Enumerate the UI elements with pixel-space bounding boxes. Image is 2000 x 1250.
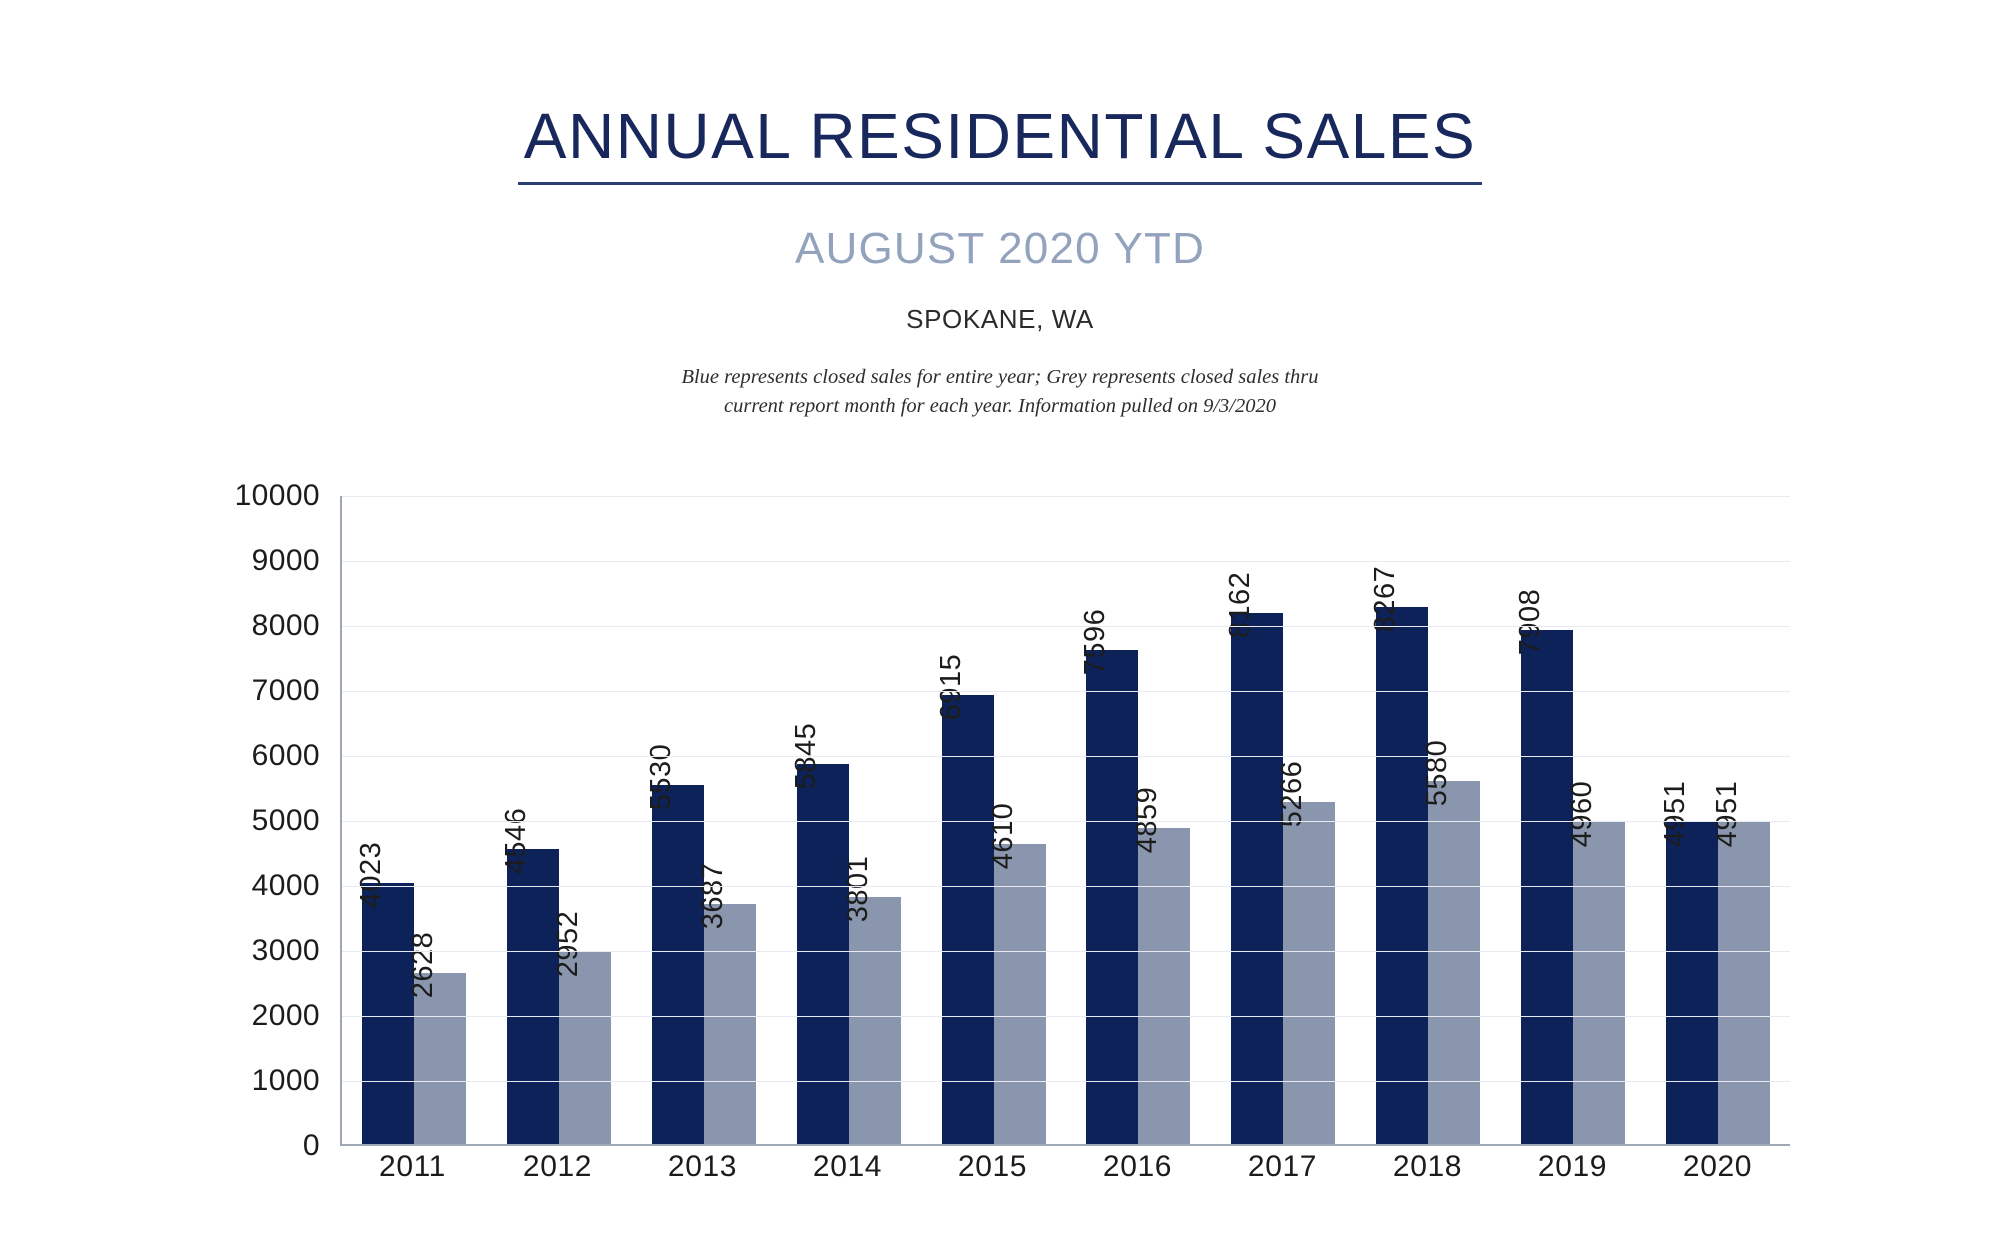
gridline: [342, 561, 1790, 562]
y-axis-tick-label: 4000: [252, 869, 320, 903]
gridline: [342, 886, 1790, 887]
bar-grey[interactable]: 2628: [414, 973, 466, 1144]
bar-group: 75964859: [1066, 496, 1211, 1144]
bar-value-label: 4960: [1566, 780, 1599, 847]
bar-chart: 1000090008000700060005000400030002000100…: [0, 496, 2000, 1196]
bar-value-label: 7908: [1514, 589, 1547, 656]
bar-value-label: 3687: [697, 863, 730, 930]
bar-blue[interactable]: 4951: [1666, 822, 1718, 1144]
y-axis-tick-label: 6000: [252, 739, 320, 773]
bar-group: 82675580: [1356, 496, 1501, 1144]
gridline: [342, 626, 1790, 627]
bar-grey[interactable]: 4960: [1573, 822, 1625, 1144]
gridline: [342, 951, 1790, 952]
bar-group: 81625266: [1211, 496, 1356, 1144]
bar-grey[interactable]: 2952: [559, 952, 611, 1144]
bar-group: 49514951: [1645, 496, 1790, 1144]
bar-group: 40232628: [342, 496, 487, 1144]
chart-note: Blue represents closed sales for entire …: [650, 363, 1350, 421]
bar-value-label: 6915: [935, 653, 968, 720]
gridline: [342, 1016, 1790, 1017]
bar-value-label: 3801: [842, 856, 875, 923]
x-axis-tick-label: 2014: [775, 1150, 920, 1184]
y-axis-tick-label: 5000: [252, 804, 320, 838]
y-axis-tick-label: 9000: [252, 544, 320, 578]
bar-value-label: 4610: [987, 803, 1020, 870]
plot-area: 4023262845462952553036875845380169154610…: [340, 496, 1790, 1146]
gridline: [342, 1081, 1790, 1082]
x-axis-tick-label: 2016: [1065, 1150, 1210, 1184]
y-axis-tick-label: 8000: [252, 609, 320, 643]
bar-grey[interactable]: 3801: [849, 897, 901, 1144]
y-axis-tick-label: 3000: [252, 934, 320, 968]
bar-value-label: 5266: [1276, 760, 1309, 827]
x-axis-tick-label: 2020: [1645, 1150, 1790, 1184]
bar-blue[interactable]: 8162: [1231, 613, 1283, 1144]
bar-blue[interactable]: 4023: [362, 883, 414, 1144]
bar-blue[interactable]: 8267: [1376, 607, 1428, 1144]
x-axis-tick-label: 2012: [485, 1150, 630, 1184]
x-axis-labels: 2011201220132014201520162017201820192020: [340, 1150, 1790, 1184]
bar-grey[interactable]: 4610: [994, 844, 1046, 1144]
y-axis-labels: 1000090008000700060005000400030002000100…: [190, 496, 320, 1146]
bar-value-label: 8267: [1369, 565, 1402, 632]
y-axis-tick-label: 2000: [252, 999, 320, 1033]
bar-group: 55303687: [632, 496, 777, 1144]
bar-value-label: 4546: [500, 807, 533, 874]
gridline: [342, 756, 1790, 757]
x-axis-tick-label: 2015: [920, 1150, 1065, 1184]
bar-blue[interactable]: 6915: [942, 695, 994, 1144]
bar-blue[interactable]: 7596: [1086, 650, 1138, 1144]
bar-group: 79084960: [1500, 496, 1645, 1144]
chart-header: ANNUAL RESIDENTIAL SALES AUGUST 2020 YTD…: [0, 0, 2000, 421]
x-axis-tick-label: 2011: [340, 1150, 485, 1184]
bar-value-label: 2952: [552, 911, 585, 978]
bar-value-label: 5530: [645, 743, 678, 810]
location-label: SPOKANE, WA: [0, 304, 2000, 335]
bar-value-label: 2628: [407, 932, 440, 999]
gridline: [342, 691, 1790, 692]
bar-blue[interactable]: 4546: [507, 849, 559, 1144]
y-axis-tick-label: 10000: [235, 479, 320, 513]
bar-value-label: 5580: [1421, 740, 1454, 807]
bar-grey[interactable]: 3687: [704, 904, 756, 1144]
bar-value-label: 8162: [1224, 572, 1257, 639]
gridline: [342, 821, 1790, 822]
bar-value-label: 4023: [355, 841, 388, 908]
y-axis-tick-label: 0: [303, 1129, 320, 1163]
gridline: [342, 496, 1790, 497]
y-axis-tick-label: 1000: [252, 1064, 320, 1098]
page-title: ANNUAL RESIDENTIAL SALES: [518, 104, 1482, 185]
page-subtitle: AUGUST 2020 YTD: [0, 227, 2000, 271]
bar-group: 58453801: [776, 496, 921, 1144]
bar-grey[interactable]: 4951: [1718, 822, 1770, 1144]
bar-grey[interactable]: 5580: [1428, 781, 1480, 1144]
y-axis-tick-label: 7000: [252, 674, 320, 708]
bar-group: 45462952: [487, 496, 632, 1144]
x-axis-tick-label: 2017: [1210, 1150, 1355, 1184]
bar-grey[interactable]: 5266: [1283, 802, 1335, 1144]
bar-value-label: 4951: [1711, 781, 1744, 848]
bar-groups: 4023262845462952553036875845380169154610…: [342, 496, 1790, 1144]
bar-blue[interactable]: 5530: [652, 785, 704, 1144]
bar-grey[interactable]: 4859: [1138, 828, 1190, 1144]
x-axis-tick-label: 2018: [1355, 1150, 1500, 1184]
bar-value-label: 4951: [1659, 781, 1692, 848]
x-axis-tick-label: 2019: [1500, 1150, 1645, 1184]
bar-value-label: 7596: [1079, 609, 1112, 676]
bar-group: 69154610: [921, 496, 1066, 1144]
x-axis-tick-label: 2013: [630, 1150, 775, 1184]
